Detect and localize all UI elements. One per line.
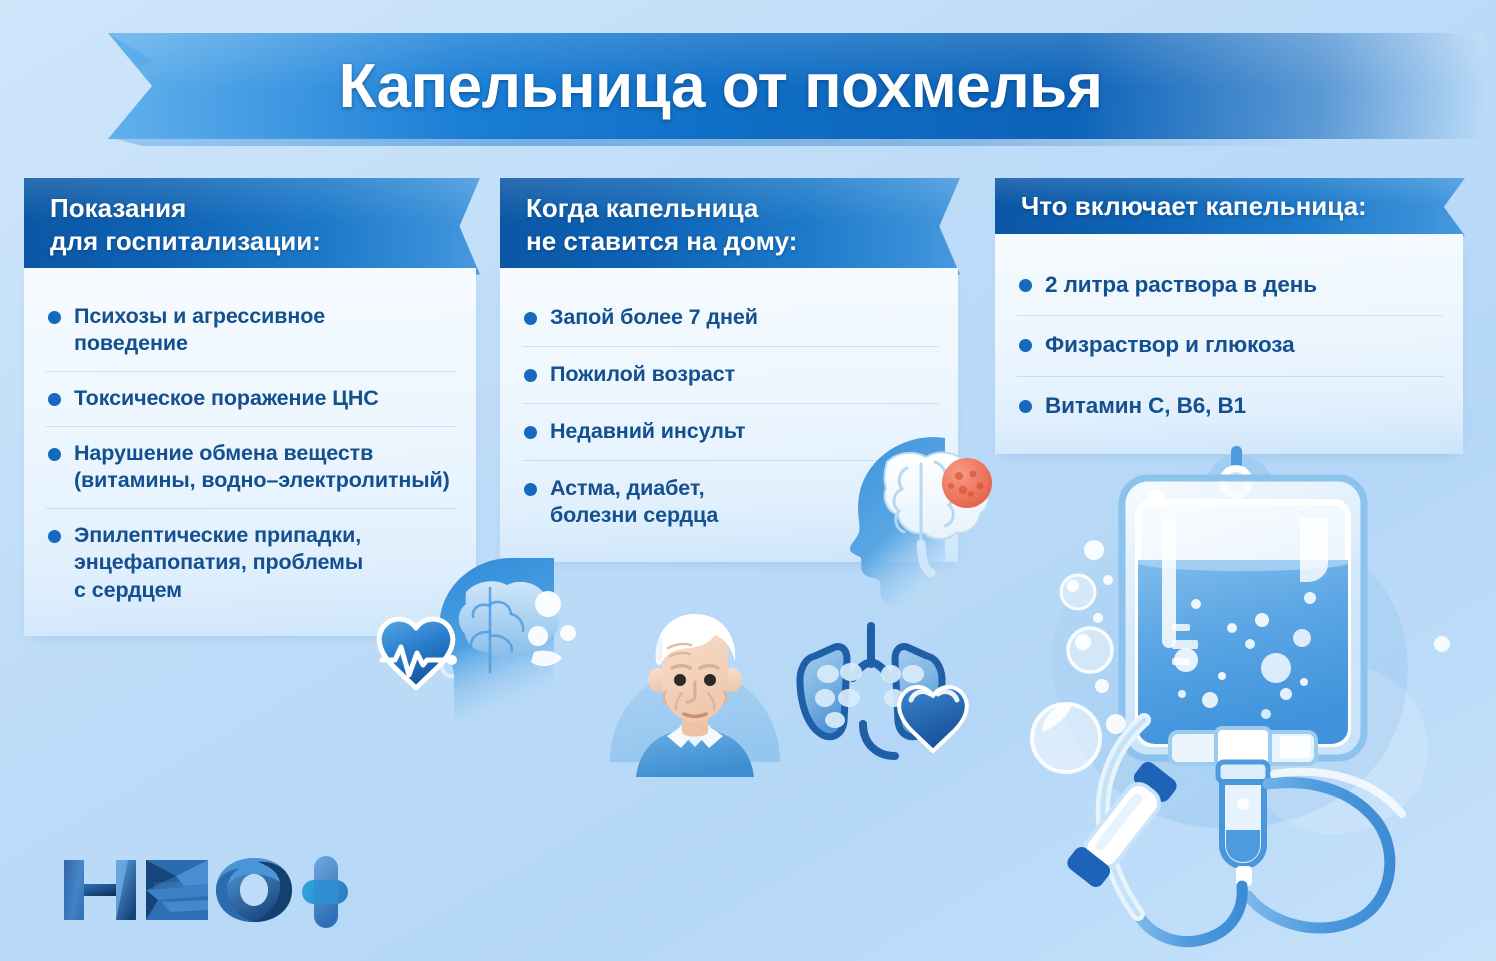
list-item: Витамин С, В6, В1 xyxy=(1017,377,1443,436)
list-item: Астма, диабет, болезни сердца xyxy=(522,461,938,544)
list-item-text: Пожилой возраст xyxy=(550,361,735,388)
list-item: Пожилой возраст xyxy=(522,347,938,404)
bullet-dot-icon xyxy=(1019,339,1032,352)
logo-letter-o xyxy=(216,858,292,922)
list-item: 2 литра раствора в день xyxy=(1017,256,1443,316)
column-not-at-home: Когда капельница не ставится на дому: За… xyxy=(500,178,960,562)
list-item-text: Запой более 7 дней xyxy=(550,304,758,331)
content-columns: Показания для госпитализации: Психозы и … xyxy=(0,178,1496,698)
list-item-text: Физраствор и глюкоза xyxy=(1045,331,1295,359)
column-1-header-ribbon: Показания для госпитализации: xyxy=(24,178,480,275)
list-item: Эпилептические припадки, энцефапопатия, … xyxy=(46,509,456,617)
column-1-header-title: Показания для госпитализации: xyxy=(50,192,462,258)
list-item-text: Недавний инсульт xyxy=(550,418,745,445)
bullet-dot-icon xyxy=(48,530,61,543)
bullet-dot-icon xyxy=(48,311,61,324)
list-item: Запой более 7 дней xyxy=(522,290,938,347)
column-2-body: Запой более 7 дней Пожилой возраст Недав… xyxy=(500,268,958,562)
brand-logo xyxy=(58,840,348,940)
column-contents: Что включает капельница: 2 литра раствор… xyxy=(995,178,1465,454)
bullet-dot-icon xyxy=(524,483,537,496)
title-banner: Капельница от похмелья xyxy=(108,33,1483,139)
logo-letter-e xyxy=(146,860,208,920)
bullet-dot-icon xyxy=(524,312,537,325)
bullet-dot-icon xyxy=(48,393,61,406)
page-title: Капельница от похмелья xyxy=(108,33,1333,139)
list-item-text: Психозы и агрессивное поведение xyxy=(74,303,325,357)
column-3-header-title: Что включает капельница: xyxy=(1021,190,1447,223)
bullet-dot-icon xyxy=(1019,279,1032,292)
bullet-dot-icon xyxy=(48,448,61,461)
list-item: Психозы и агрессивное поведение xyxy=(46,290,456,372)
column-hospitalization: Показания для госпитализации: Психозы и … xyxy=(24,178,480,636)
list-item-text: Астма, диабет, болезни сердца xyxy=(550,475,718,529)
column-3-header-ribbon: Что включает капельница: xyxy=(995,178,1465,236)
list-item-text: Нарушение обмена веществ (витамины, водн… xyxy=(74,440,450,494)
list-item: Нарушение обмена веществ (витамины, водн… xyxy=(46,427,456,509)
list-item-text: 2 литра раствора в день xyxy=(1045,271,1317,299)
list-item: Физраствор и глюкоза xyxy=(1017,316,1443,376)
logo-letter-n xyxy=(64,860,136,920)
bullet-dot-icon xyxy=(1019,400,1032,413)
bullet-dot-icon xyxy=(524,426,537,439)
column-2-header-title: Когда капельница не ставится на дому: xyxy=(526,192,942,258)
list-item-text: Витамин С, В6, В1 xyxy=(1045,392,1246,420)
column-3-body: 2 литра раствора в день Физраствор и глю… xyxy=(995,234,1463,454)
logo-plus-icon xyxy=(302,856,348,928)
column-1-body: Психозы и агрессивное поведение Токсичес… xyxy=(24,268,476,636)
bullet-dot-icon xyxy=(524,369,537,382)
list-item-text: Токсическое поражение ЦНС xyxy=(74,385,379,412)
column-2-header-ribbon: Когда капельница не ставится на дому: xyxy=(500,178,960,275)
list-item: Токсическое поражение ЦНС xyxy=(46,372,456,427)
list-item-text: Эпилептические припадки, энцефапопатия, … xyxy=(74,522,363,603)
list-item: Недавний инсульт xyxy=(522,404,938,461)
